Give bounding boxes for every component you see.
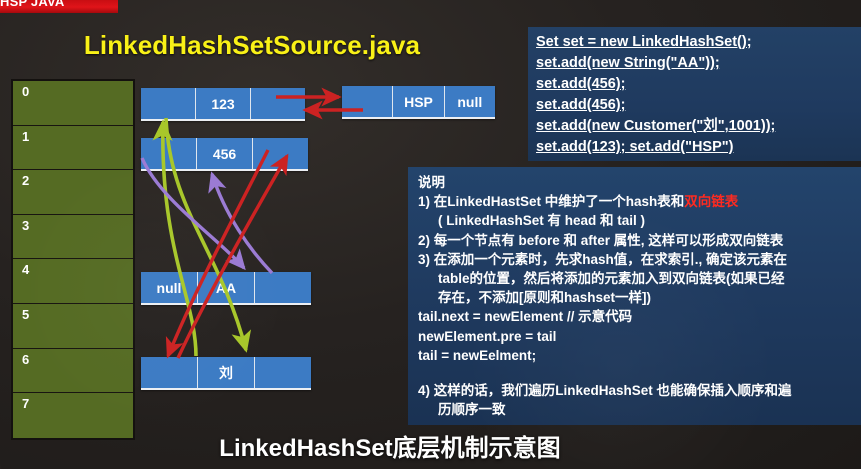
explanation-code-line-1: tail.next = newElement // 示意代码 — [418, 307, 855, 326]
explanation-code-line-3: tail = newEelment; — [418, 346, 855, 365]
node-123: 123 — [141, 88, 305, 121]
code-line-5: set.add(new Customer("刘",1001)); — [536, 116, 861, 137]
node-123-pre — [141, 88, 196, 119]
node-aa-pre: null — [141, 272, 198, 303]
explanation-item-3-line-3: 存在，不添加[原则和hashset一样]) — [418, 288, 855, 307]
code-line-4: set.add(456); — [536, 95, 861, 116]
arrow-red-456-to-liu — [168, 150, 268, 356]
explanation-item-1-line-1: 1) 在LinkedHastSet 中维护了一个hash表和双向链表 — [418, 192, 855, 211]
node-aa-next — [255, 272, 311, 303]
explanation-panel: 说明 1) 在LinkedHastSet 中维护了一个hash表和双向链表 ( … — [408, 167, 861, 425]
node-123-value: 123 — [196, 88, 251, 119]
top-red-banner: HSP JAVA — [0, 0, 118, 13]
code-line-2: set.add(new String("AA")); — [536, 53, 861, 74]
explanation-item-2: 2) 每一个节点有 before 和 after 属性, 这样可以形成双向链表 — [418, 231, 855, 250]
node-123-next — [251, 88, 305, 119]
explanation-code-line-2: newElement.pre = tail — [418, 327, 855, 346]
node-hsp-value: HSP — [393, 86, 444, 117]
table-cell-1: 1 — [13, 126, 133, 171]
node-liu-next — [255, 357, 311, 388]
explanation-heading: 说明 — [418, 173, 855, 192]
table-cell-6: 6 — [13, 349, 133, 394]
slide-canvas: HSP JAVA LinkedHashSetSource.java 0 1 2 … — [0, 0, 861, 469]
table-cell-7: 7 — [13, 393, 133, 438]
node-hsp-pre — [342, 86, 393, 117]
arrow-red-liu-to-456 — [178, 156, 287, 358]
explanation-item-3-line-2: table的位置，然后将添加的元素加入到双向链表(如果已经 — [418, 269, 855, 288]
node-456-pre — [141, 138, 197, 169]
hash-table-array: 0 1 2 3 4 5 6 7 — [11, 79, 135, 440]
code-snippet-panel: Set set = new LinkedHashSet(); set.add(n… — [528, 27, 861, 161]
explanation-spacer — [418, 365, 855, 381]
node-hsp: HSP null — [342, 86, 495, 119]
page-title: LinkedHashSetSource.java — [82, 30, 422, 61]
node-hsp-next: null — [445, 86, 495, 117]
table-cell-0: 0 — [13, 81, 133, 126]
node-aa-value: AA — [198, 272, 255, 303]
node-liu-value: 刘 — [198, 357, 255, 388]
top-red-banner-label: HSP JAVA — [0, 0, 118, 7]
explanation-item-1-highlight: 双向链表 — [684, 194, 738, 209]
node-456-next — [253, 138, 308, 169]
code-line-1: Set set = new LinkedHashSet(); — [536, 32, 861, 53]
code-line-6: set.add(123); set.add("HSP") — [536, 137, 861, 158]
explanation-item-4-line-2: 历顺序一致 — [418, 400, 855, 419]
table-cell-4: 4 — [13, 259, 133, 304]
code-line-3: set.add(456); — [536, 74, 861, 95]
node-liu-pre — [141, 357, 198, 388]
table-cell-3: 3 — [13, 215, 133, 260]
explanation-item-4-line-1: 4) 这样的话，我们遍历LinkedHashSet 也能确保插入顺序和遍 — [418, 381, 855, 400]
table-cell-2: 2 — [13, 170, 133, 215]
arrow-purple-456-to-aa — [142, 158, 244, 268]
explanation-item-3-line-1: 3) 在添加一个元素时，先求hash值，在求索引., 确定该元素在 — [418, 250, 855, 269]
diagram-caption: LinkedHashSet底层机制示意图 — [180, 428, 600, 463]
node-456: 456 — [141, 138, 308, 171]
arrow-purple-aa-to-456 — [212, 174, 272, 273]
node-liu: 刘 — [141, 357, 311, 390]
table-cell-5: 5 — [13, 304, 133, 349]
node-aa: null AA — [141, 272, 311, 305]
explanation-item-1-line-2: ( LinkedHashSet 有 head 和 tail ) — [418, 211, 855, 230]
node-456-value: 456 — [197, 138, 253, 169]
explanation-item-1-text: 1) 在LinkedHastSet 中维护了一个hash表和 — [418, 194, 684, 209]
